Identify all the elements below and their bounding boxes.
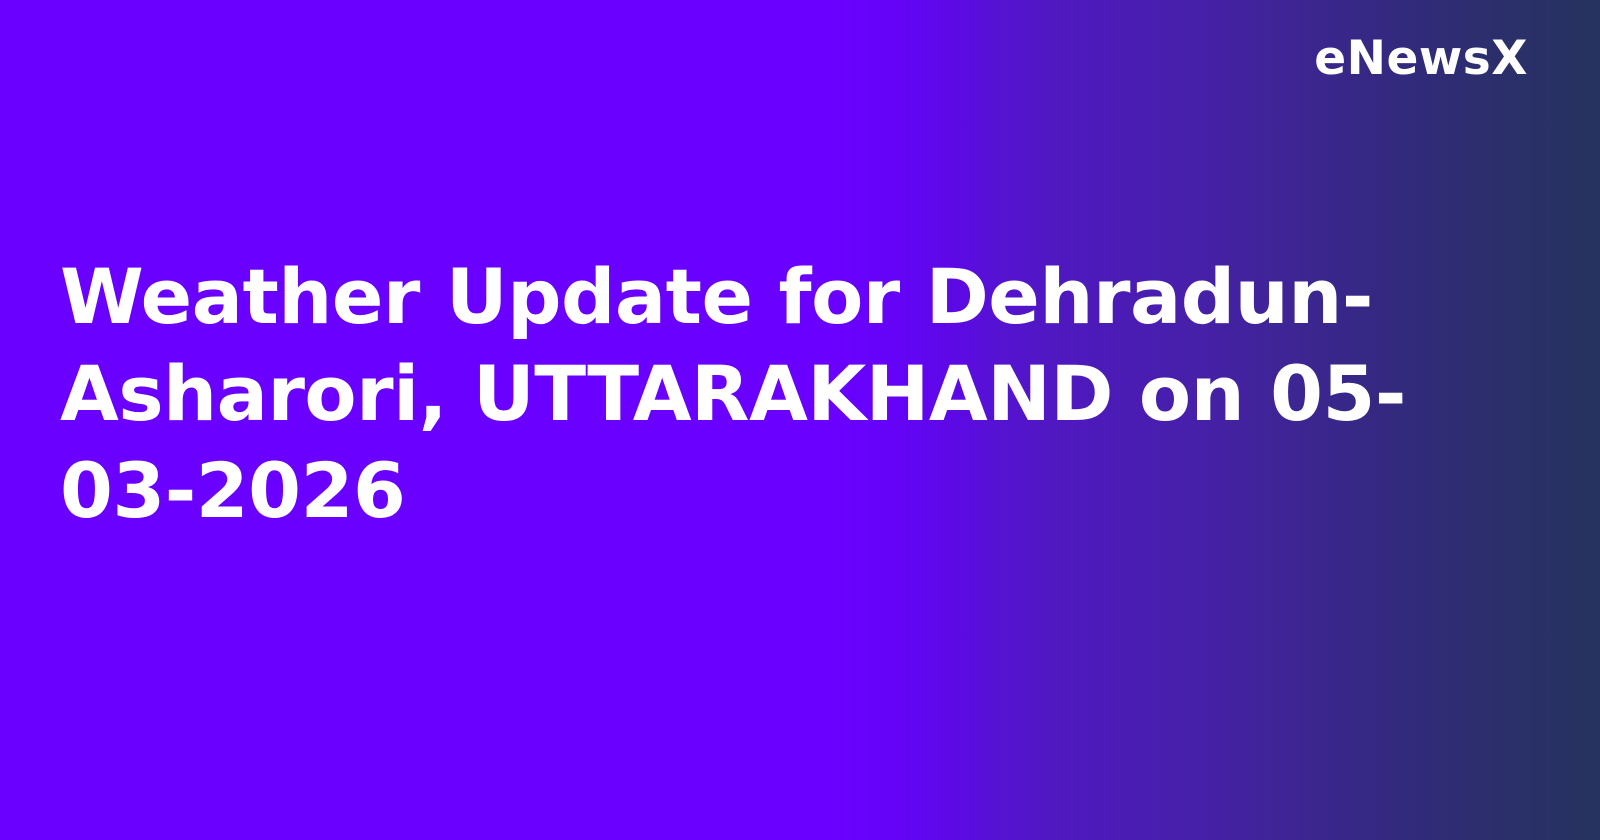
headline-container: Weather Update for Dehradun-Asharori, UT… <box>60 248 1520 539</box>
news-banner-card: eNewsX Weather Update for Dehradun-Ashar… <box>0 0 1600 840</box>
page-title: Weather Update for Dehradun-Asharori, UT… <box>60 248 1520 539</box>
brand-logo: eNewsX <box>1314 32 1528 86</box>
